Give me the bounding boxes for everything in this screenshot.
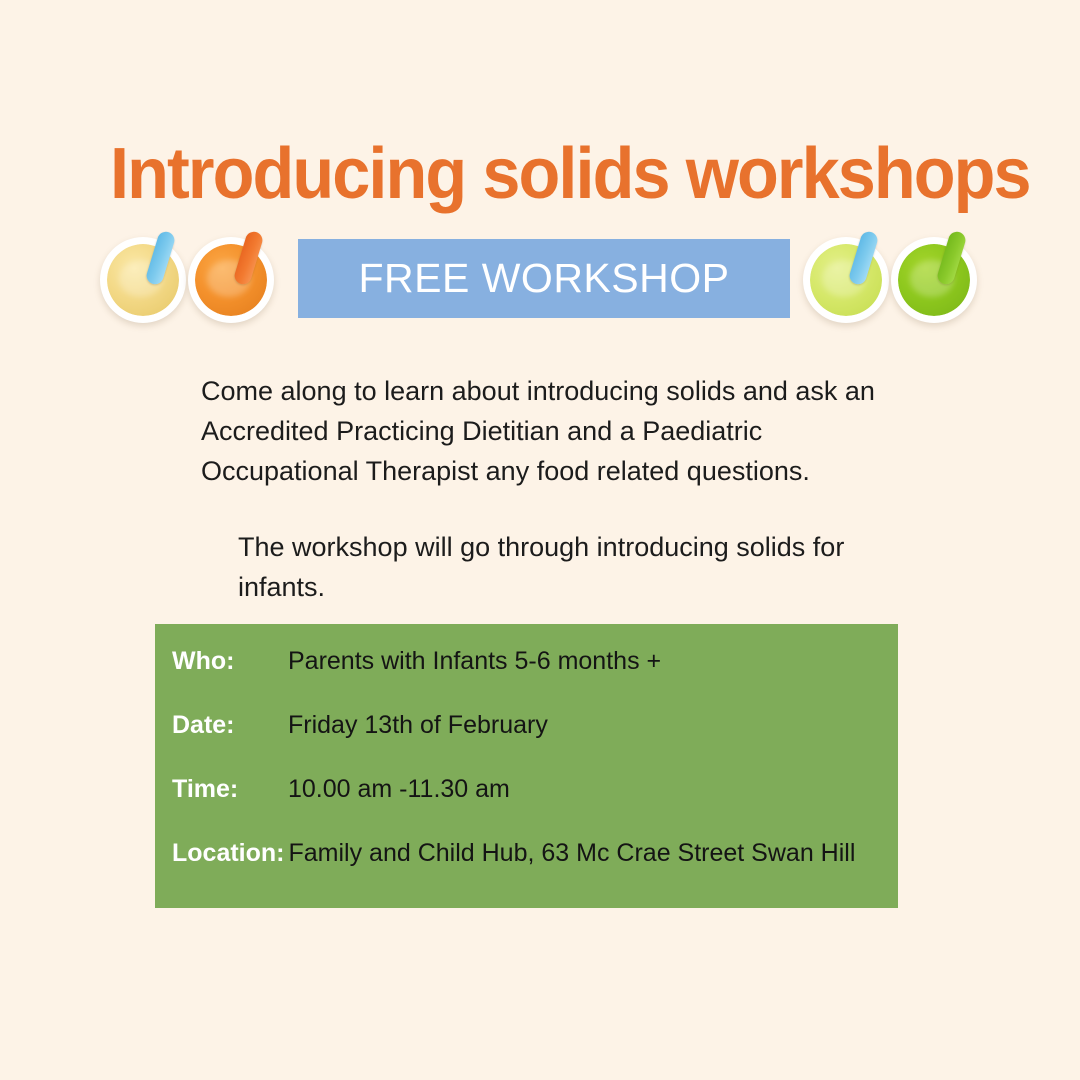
details-box: Who: Parents with Infants 5-6 months + D… <box>155 624 898 908</box>
description-paragraph: The workshop will go through introducing… <box>238 527 918 607</box>
detail-row-time: Time: 10.00 am -11.30 am <box>172 775 888 839</box>
detail-row-date: Date: Friday 13th of February <box>172 711 888 775</box>
detail-label-who: Who: <box>172 647 288 676</box>
free-workshop-banner: FREE WORKSHOP <box>298 239 790 318</box>
page-title: Introducing solids workshops <box>110 138 965 210</box>
detail-row-who: Who: Parents with Infants 5-6 months + <box>172 647 888 711</box>
detail-label-time: Time: <box>172 775 288 804</box>
bowls-right-decoration <box>803 229 989 333</box>
bowl-orange-puree <box>188 237 274 323</box>
detail-label-date: Date: <box>172 711 288 740</box>
detail-value-who: Parents with Infants 5-6 months + <box>288 647 661 676</box>
detail-value-time: 10.00 am -11.30 am <box>288 775 510 804</box>
free-workshop-banner-label: FREE WORKSHOP <box>359 255 730 302</box>
bowl-light-green-puree <box>803 237 889 323</box>
flyer-canvas: Introducing solids workshops <box>0 0 1080 1080</box>
bowls-left-decoration <box>100 229 286 333</box>
detail-label-location: Location: <box>172 839 285 868</box>
bowl-green-puree <box>891 237 977 323</box>
intro-paragraph: Come along to learn about introducing so… <box>201 371 921 491</box>
detail-row-location: Location: Family and Child Hub, 63 Mc Cr… <box>172 839 888 903</box>
detail-value-date: Friday 13th of February <box>288 711 548 740</box>
details-list: Who: Parents with Infants 5-6 months + D… <box>172 647 888 898</box>
detail-value-location: Family and Child Hub, 63 Mc Crae Street … <box>289 839 856 868</box>
bowl-yellow-puree <box>100 237 186 323</box>
